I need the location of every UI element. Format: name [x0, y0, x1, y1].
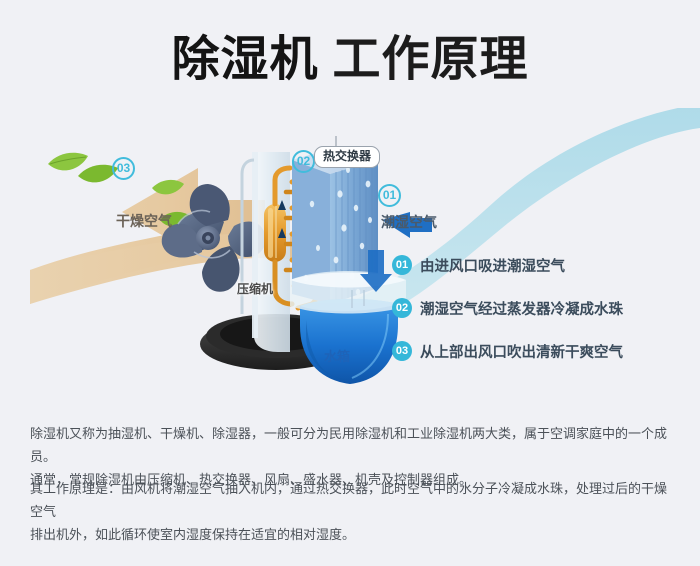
page-title-part-1: 除湿机 [171, 33, 318, 86]
body-paragraph-2-line-1: 其工作原理是：由风机将潮湿空气抽入机内，通过热交换器，此时空气中的水分子冷凝成水… [30, 477, 675, 523]
diagram-badge-02: 02 [292, 150, 315, 173]
legend-item-01: 01 由进风口吸进潮湿空气 [392, 254, 692, 276]
legend-badge-03: 03 [392, 341, 412, 361]
page-title: 除湿机工作原理 [171, 28, 528, 92]
legend-item-03: 03 从上部出风口吹出清新干爽空气 [392, 340, 692, 362]
diagram-badge-01: 01 [378, 184, 401, 207]
page-title-part-2: 工作原理 [333, 33, 529, 86]
body-paragraph-2: 其工作原理是：由风机将潮湿空气抽入机内，通过热交换器，此时空气中的水分子冷凝成水… [30, 477, 675, 546]
legend-item-02: 02 潮湿空气经过蒸发器冷凝成水珠 [392, 297, 692, 319]
label-compressor: 压缩机 [237, 280, 273, 297]
legend-text-02: 潮湿空气经过蒸发器冷凝成水珠 [420, 298, 623, 319]
body-paragraph-1-line-1: 除湿机又称为抽湿机、干燥机、除湿器，一般可分为民用除湿机和工业除湿机两大类，属于… [30, 422, 675, 468]
legend-text-01: 由进风口吸进潮湿空气 [420, 255, 565, 276]
callout-heat-exchanger: 热交换器 [314, 146, 380, 168]
legend-text-03: 从上部出风口吹出清新干爽空气 [420, 341, 623, 362]
page-title-container: 除湿机工作原理 [0, 28, 700, 98]
legend-badge-01: 01 [392, 255, 412, 275]
diagram-badge-03: 03 [112, 157, 135, 180]
legend-list: 01 由进风口吸进潮湿空气 02 潮湿空气经过蒸发器冷凝成水珠 03 从上部出风… [392, 254, 692, 383]
label-humid-air: 潮湿空气 [381, 212, 437, 232]
legend-badge-02: 02 [392, 298, 412, 318]
body-paragraph-2-line-2: 排出机外，如此循环使室内湿度保持在适宜的相对湿度。 [30, 523, 675, 546]
label-dry-air: 干燥空气 [116, 211, 172, 231]
label-water-tank: 水箱 [324, 346, 350, 365]
